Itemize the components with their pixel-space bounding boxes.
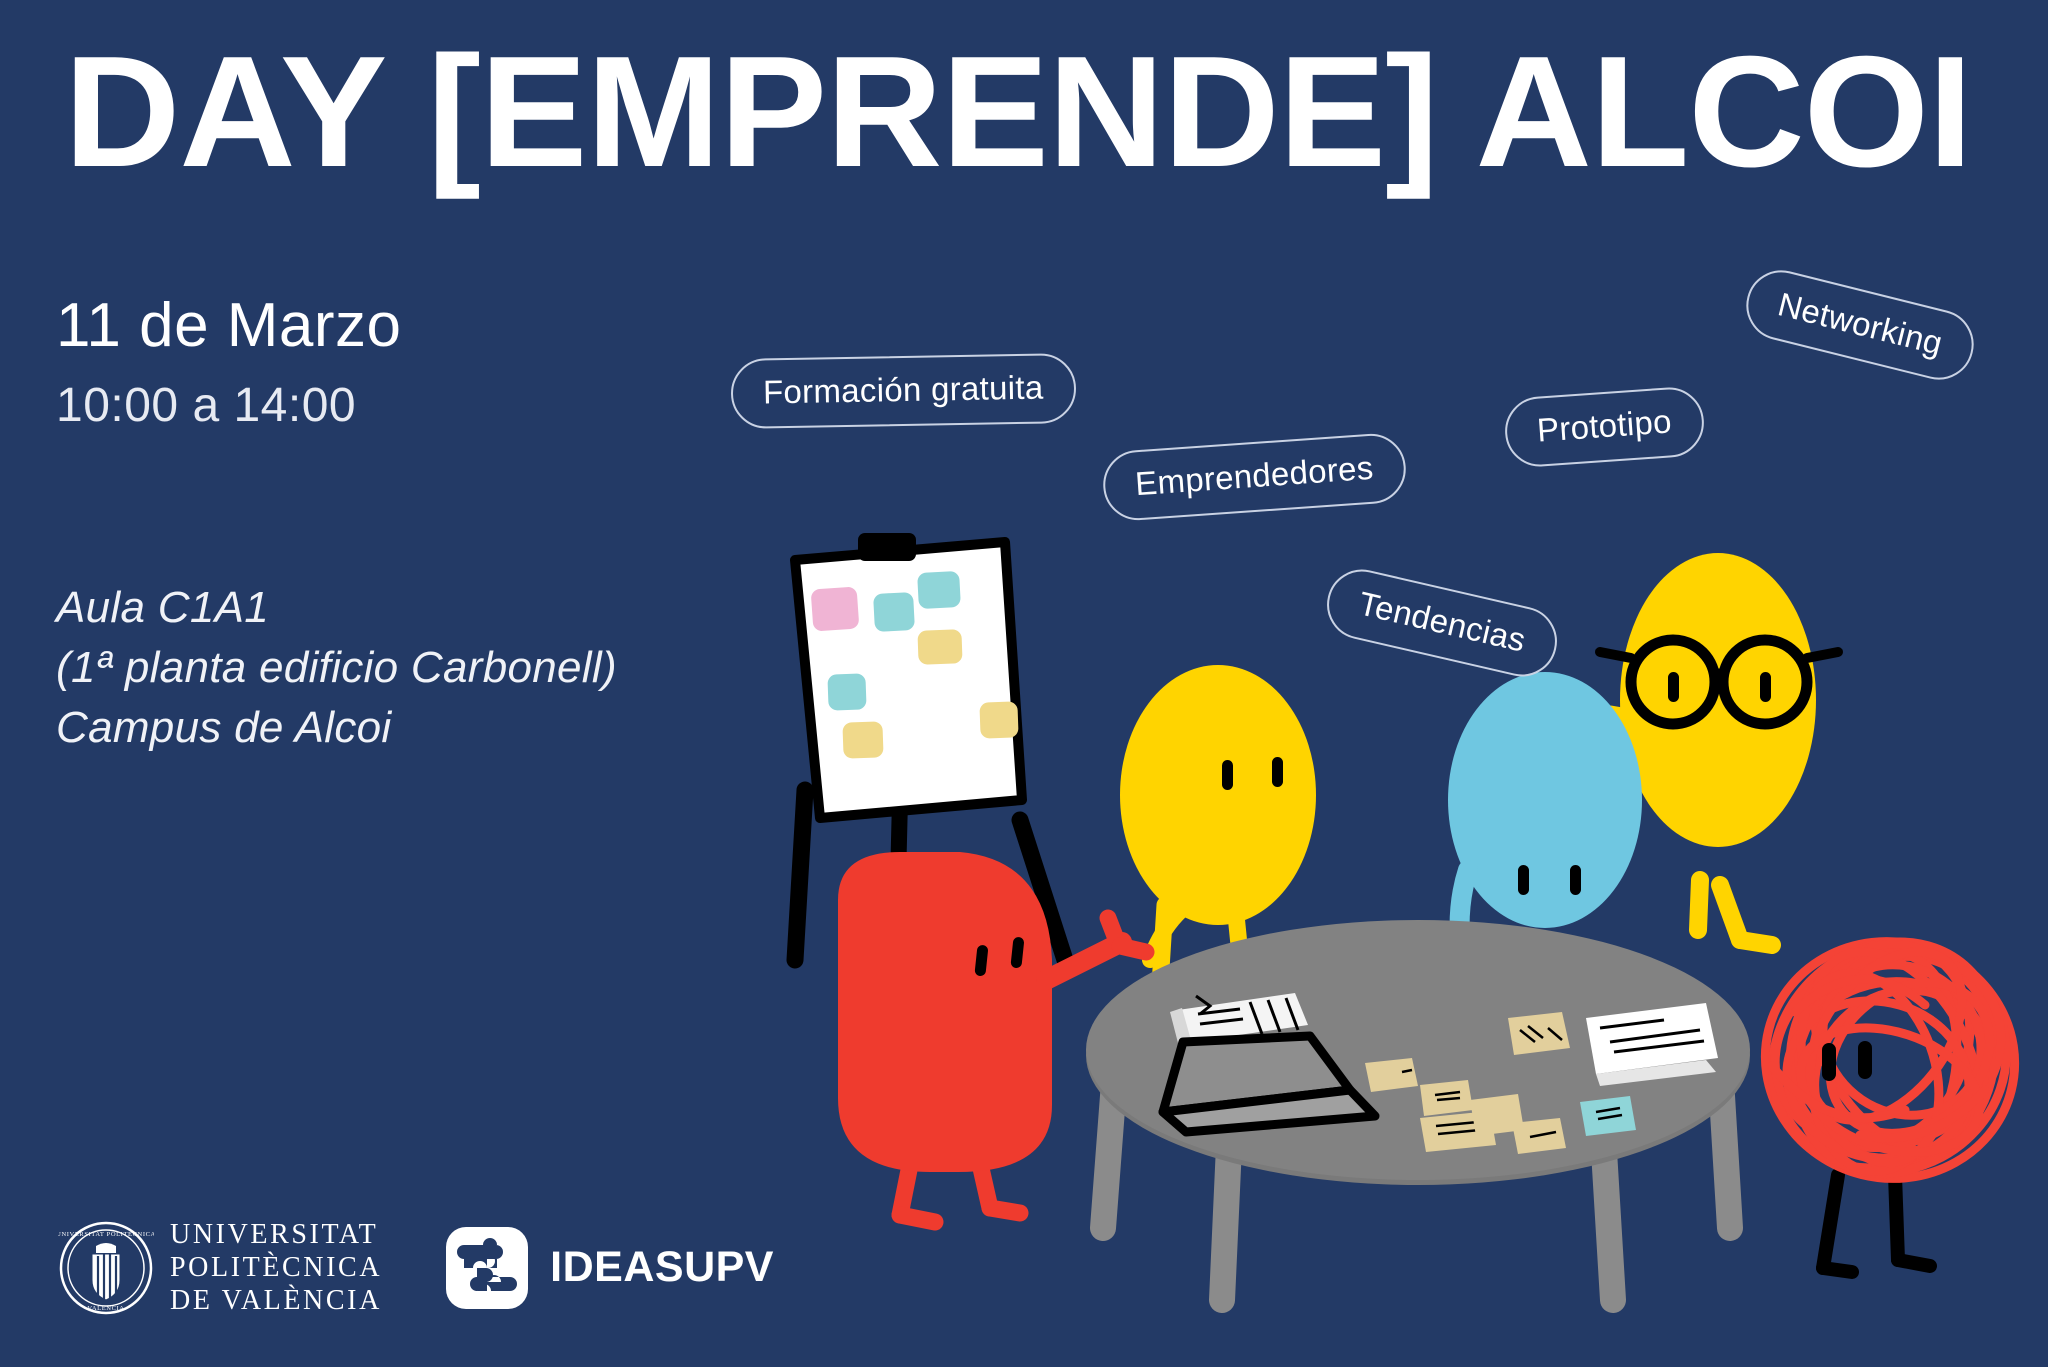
page-title: DAY [EMPRENDE] ALCOI bbox=[64, 32, 2048, 193]
ideasupv-wordmark: IDEASUPV bbox=[550, 1243, 774, 1292]
logo-ideasupv: IDEASUPV bbox=[444, 1225, 774, 1311]
svg-text:VALENCIA: VALENCIA bbox=[87, 1305, 124, 1312]
logo-bar: UNIVERSITAT POLITECNICA VALENCIA UNIVERS… bbox=[58, 1218, 774, 1317]
venue-line-2: (1ª planta edificio Carbonell) bbox=[56, 638, 617, 698]
venue-line-3: Campus de Alcoi bbox=[56, 698, 617, 758]
poster-root: DAY [EMPRENDE] ALCOI 11 de Marzo 10:00 a… bbox=[0, 0, 2048, 1367]
event-venue: Aula C1A1 (1ª planta edificio Carbonell)… bbox=[56, 578, 617, 757]
venue-line-1: Aula C1A1 bbox=[56, 578, 617, 638]
upv-wordmark: UNIVERSITAT POLITÈCNICA DE VALÈNCIA bbox=[170, 1218, 382, 1317]
upv-line-2: POLITÈCNICA bbox=[170, 1251, 382, 1284]
logo-upv: UNIVERSITAT POLITECNICA VALENCIA UNIVERS… bbox=[58, 1218, 382, 1317]
event-time: 10:00 a 14:00 bbox=[56, 378, 356, 433]
upv-seal-icon: UNIVERSITAT POLITECNICA VALENCIA bbox=[58, 1220, 154, 1316]
upv-line-1: UNIVERSITAT bbox=[170, 1218, 382, 1251]
tag-formacion-gratuita[interactable]: Formación gratuita bbox=[730, 353, 1076, 429]
event-date: 11 de Marzo bbox=[56, 290, 402, 361]
puzzle-piece-icon bbox=[444, 1225, 530, 1311]
svg-text:UNIVERSITAT POLITECNICA: UNIVERSITAT POLITECNICA bbox=[58, 1231, 154, 1238]
tag-prototipo[interactable]: Prototipo bbox=[1503, 385, 1706, 469]
upv-line-3: DE VALÈNCIA bbox=[170, 1284, 382, 1317]
